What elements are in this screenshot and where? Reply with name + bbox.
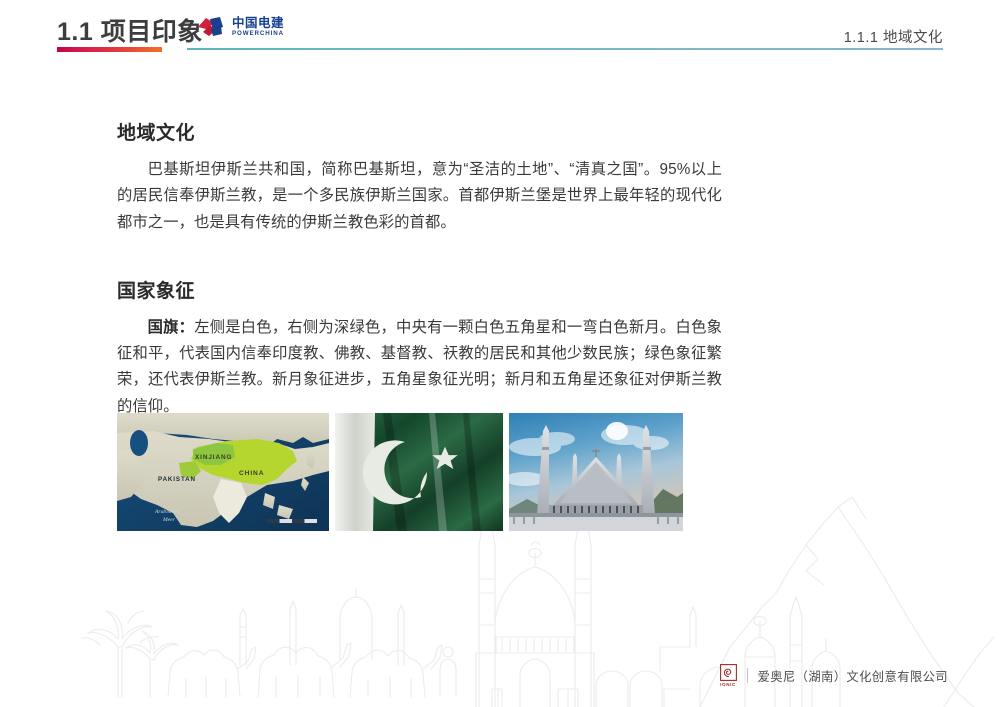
section-paragraph-flag-text: 左侧是白色，右侧为深绿色，中央有一颗白色五角星和一弯白色新月。白色象征和平，代表… (117, 319, 722, 415)
header-accent-rule-blue (187, 48, 943, 50)
section-heading-regional-culture: 地域文化 (117, 118, 722, 145)
minaret-icon (290, 601, 296, 665)
footer-credit: IONIC 爱奥尼（湖南）文化创意有限公司 (720, 664, 948, 687)
footer-company-name: 爱奥尼（湖南）文化创意有限公司 (758, 667, 948, 685)
faisal-mosque-photo (509, 413, 683, 531)
palm-tree-icon (82, 611, 158, 697)
svg-text:Meer: Meer (162, 517, 176, 523)
page-subtitle: 1.1.1 地域文化 (844, 26, 943, 47)
minaret-icon (240, 609, 246, 665)
minaret-icon (690, 607, 696, 647)
svg-text:CHINA: CHINA (239, 470, 264, 477)
section-paragraph-national-symbols: 国旗：左侧是白色，右侧为深绿色，中央有一颗白色五角星和一弯白色新月。白色象征和平… (117, 315, 722, 420)
section-paragraph-regional-culture: 巴基斯坦伊斯兰共和国，简称巴基斯坦，意为“圣洁的土地”、“清真之国”。95%以上… (117, 157, 722, 236)
mosque-dome-icon (476, 519, 594, 707)
header-accent-rule-red (57, 47, 162, 52)
svg-text:Arabisches: Arabisches (154, 509, 180, 515)
minaret-icon (398, 605, 404, 665)
mosque-dome-icon (745, 617, 775, 707)
mountain-icon (944, 637, 994, 707)
powerchina-logo-cn: 中国电建 (232, 17, 284, 30)
minaret-icon (790, 597, 802, 707)
svg-text:XINJIANG: XINJIANG (195, 454, 232, 461)
mosque-dome-icon (340, 597, 372, 659)
powerchina-diamond-logo (196, 15, 226, 39)
svg-text:PAKISTAN: PAKISTAN (158, 476, 196, 483)
pakistan-flag-photo (335, 413, 503, 531)
palm-tree-icon (126, 631, 178, 697)
person-icon (440, 647, 456, 697)
section-inline-label-flag: 国旗： (148, 319, 195, 336)
powerchina-logo-en: POWERCHINA (232, 31, 284, 37)
camel-icon (168, 647, 256, 697)
slide-body: 地域文化 巴基斯坦伊斯兰共和国，简称巴基斯坦，意为“圣洁的土地”、“清真之国”。… (117, 118, 722, 420)
page-title: 1.1 项目印象 (57, 12, 203, 48)
image-strip: XINJIANG CHINA PAKISTAN Arabisches Meer (117, 413, 683, 531)
map-scale-bar (267, 519, 317, 523)
map-china-pakistan: XINJIANG CHINA PAKISTAN Arabisches Meer (117, 413, 329, 531)
footer-divider (747, 668, 748, 683)
mosque-dome-icon (596, 671, 628, 707)
section-heading-national-symbols: 国家象征 (117, 276, 722, 303)
ionic-wordmark: IONIC (720, 682, 736, 687)
slide-header: 1.1 项目印象 中国电建 POWERCHINA 1.1.1 地域文化 (0, 0, 1000, 62)
ionic-spiral-logo: IONIC (720, 664, 737, 687)
powerchina-logo: 中国电建 POWERCHINA (196, 15, 284, 39)
camel-icon (350, 645, 442, 697)
slide-root: 1.1 项目印象 中国电建 POWERCHINA 1.1.1 地域文化 地域文化… (0, 0, 1000, 707)
camel-icon (258, 643, 351, 697)
